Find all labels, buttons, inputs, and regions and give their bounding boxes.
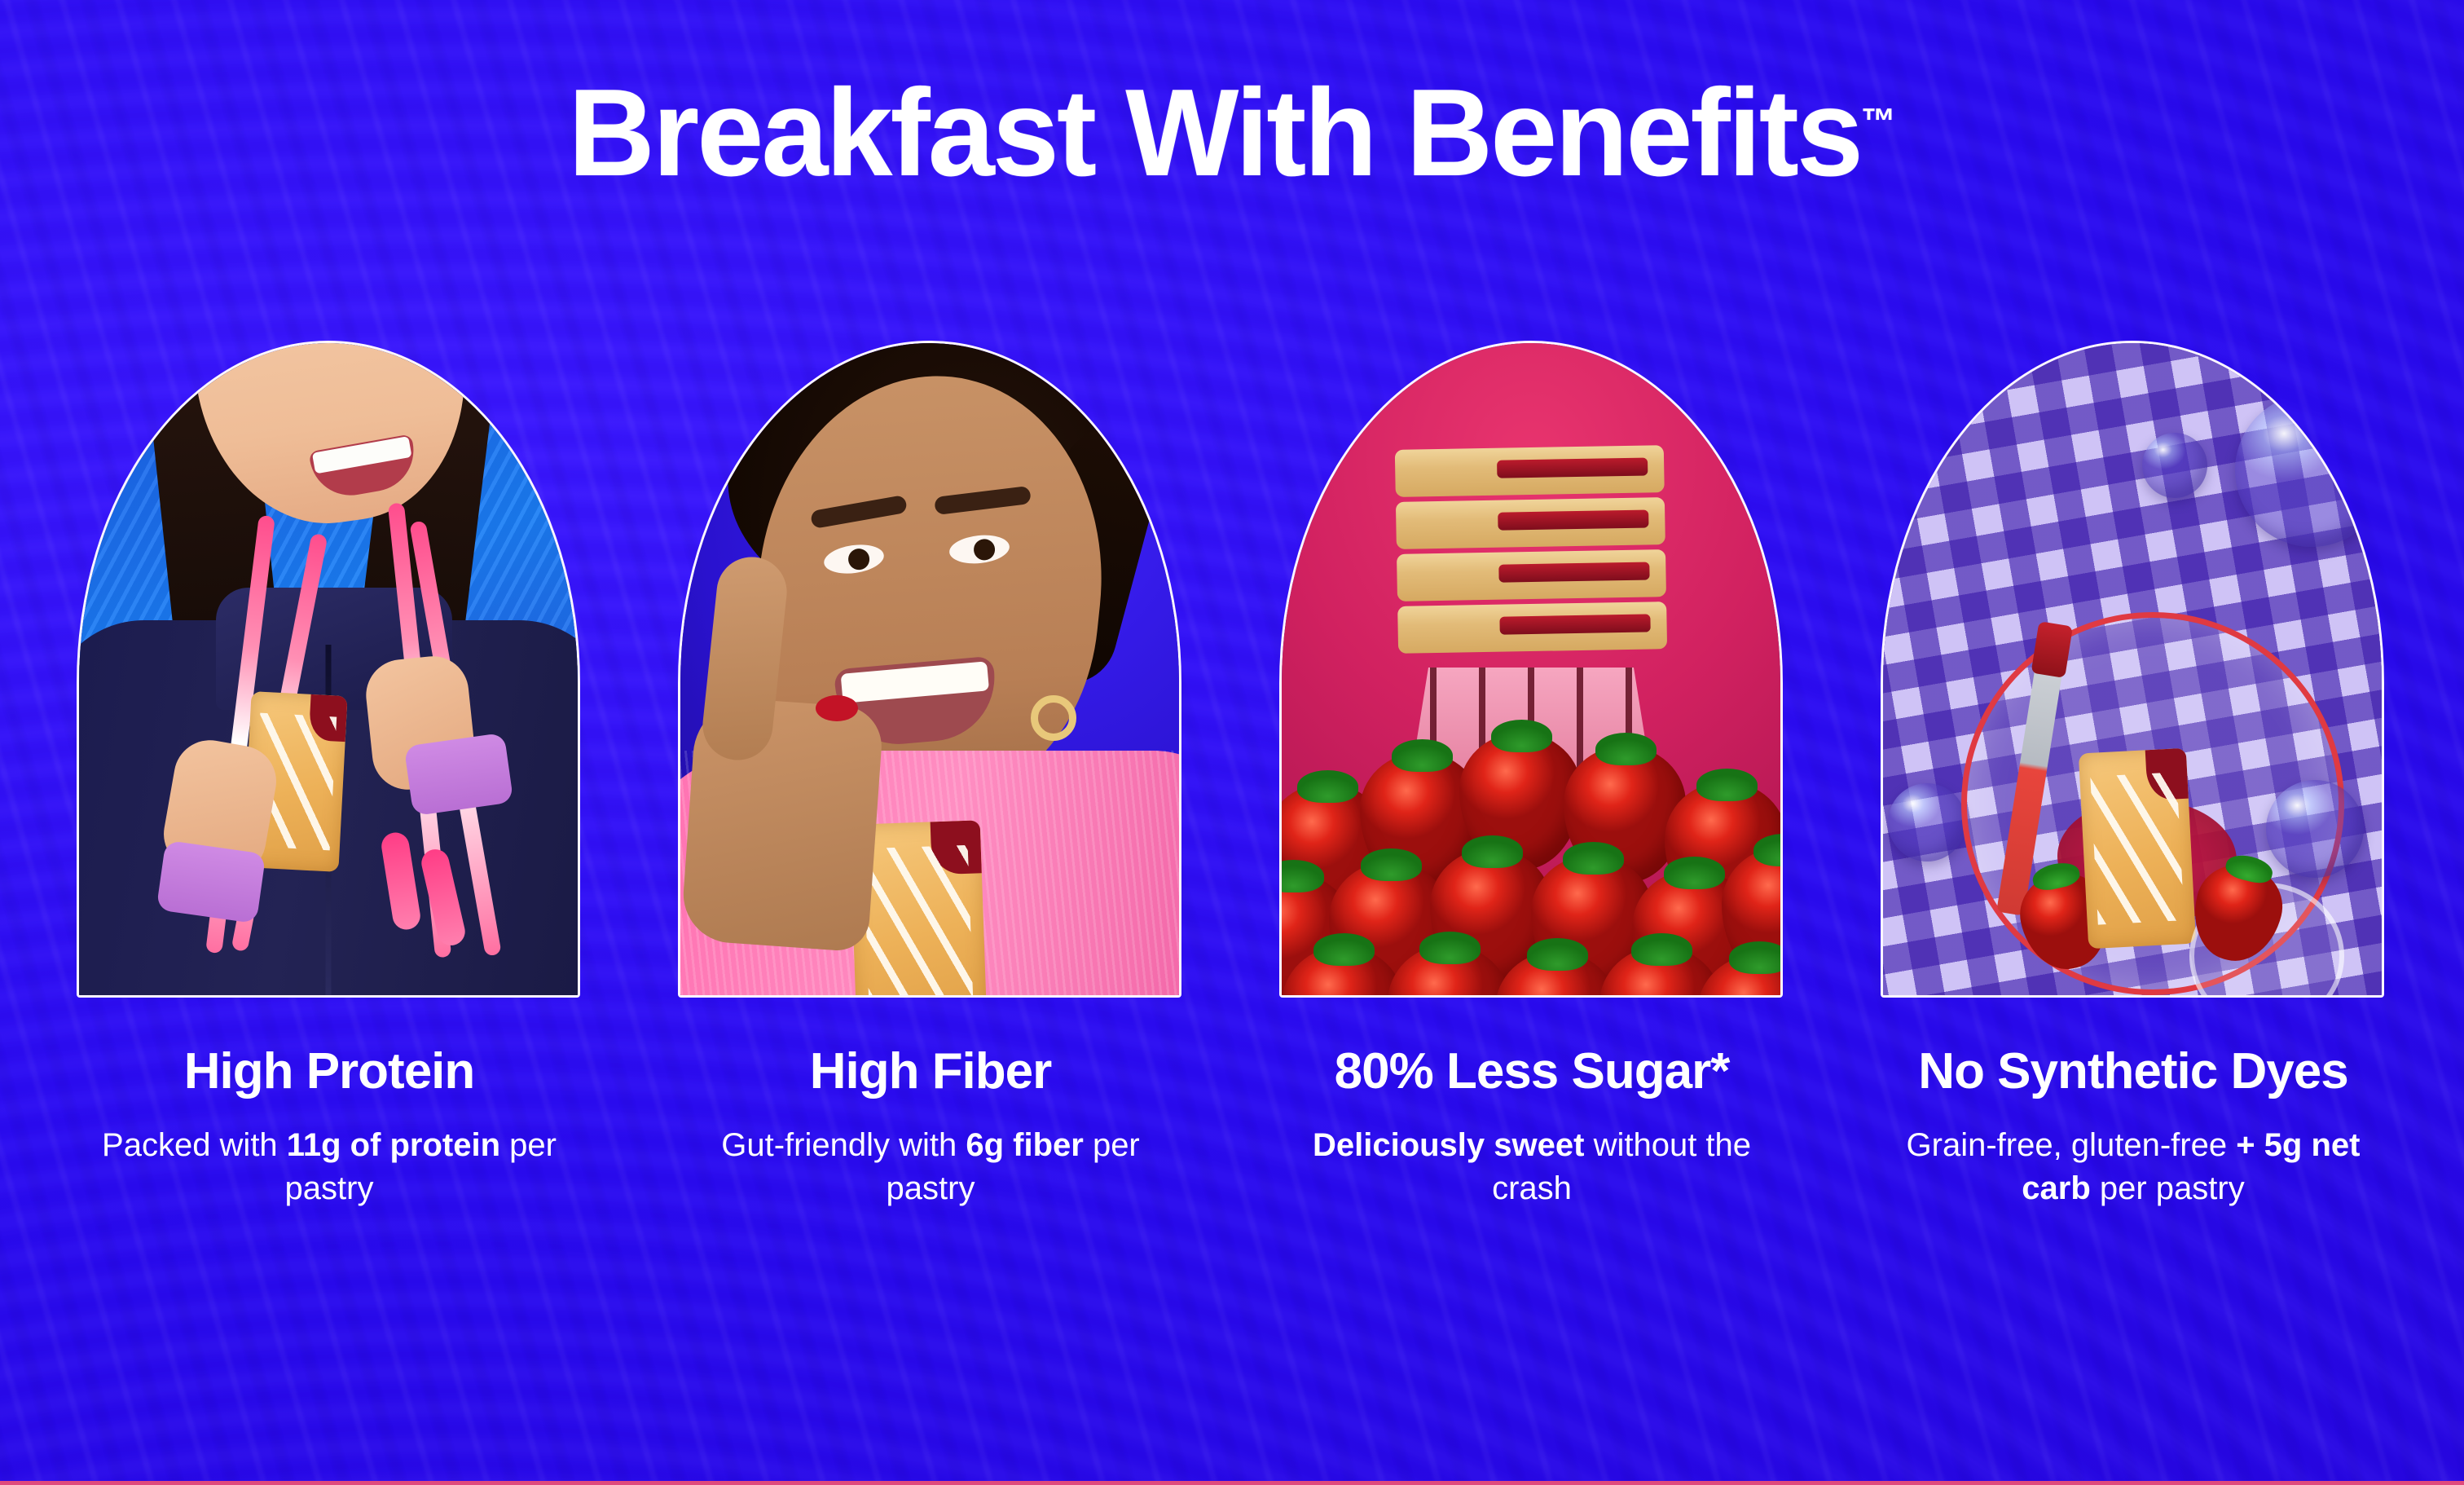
photo-gingham-flatlay	[1883, 343, 2382, 995]
jacket-cuff	[404, 733, 514, 816]
benefit-title: No Synthetic Dyes	[1881, 1045, 2386, 1099]
benefit-caption: High Protein Packed with 11g of protein …	[77, 1045, 582, 1210]
benefit-caption: 80% Less Sugar* Deliciously sweet withou…	[1279, 1045, 1784, 1210]
pastry-slice	[1397, 549, 1666, 601]
glass-marble	[2235, 394, 2382, 547]
benefit-caption: High Fiber Gut-friendly with 6g fiber pe…	[678, 1045, 1183, 1210]
pastry	[2079, 748, 2196, 950]
pastry-slice	[1396, 497, 1665, 549]
benefit-title: High Protein	[77, 1045, 582, 1099]
pastry-icing-drizzle	[2090, 772, 2184, 925]
glass-marble	[2142, 433, 2207, 498]
benefit-card-no-synthetic-dyes[interactable]: No Synthetic Dyes Grain-free, gluten-fre…	[1881, 341, 2386, 1210]
benefit-description: Grain-free, gluten-free + 5g net carb pe…	[1881, 1124, 2386, 1210]
desc-highlight: 11g of protein	[287, 1127, 500, 1163]
benefit-image-high-fiber	[678, 341, 1181, 998]
page-content: Breakfast With Benefits™	[0, 0, 2464, 1485]
glass-marble	[2266, 780, 2364, 878]
benefit-image-no-synthetic-dyes	[1881, 341, 2384, 998]
trademark-symbol: ™	[1861, 101, 1896, 141]
benefit-description: Deliciously sweet without the crash	[1279, 1124, 1784, 1210]
benefit-title: 80% Less Sugar*	[1279, 1045, 1784, 1099]
desc-prefix: Grain-free, gluten-free	[1907, 1127, 2237, 1163]
pastry-slice	[1397, 601, 1667, 654]
page-title-text: Breakfast With Benefits	[568, 64, 1861, 202]
photo-gym-woman	[79, 343, 578, 995]
photo-strawberry-tower	[1282, 343, 1780, 995]
desc-highlight: Deliciously sweet	[1313, 1127, 1584, 1163]
benefit-image-less-sugar	[1279, 341, 1783, 998]
glass-marble	[1888, 783, 1966, 861]
hoop-earring	[1031, 695, 1076, 741]
benefit-description: Gut-friendly with 6g fiber per pastry	[678, 1124, 1183, 1210]
pastry-icing-drizzle	[864, 845, 974, 995]
benefit-card-less-sugar[interactable]: 80% Less Sugar* Deliciously sweet withou…	[1279, 341, 1784, 1210]
benefits-row: High Protein Packed with 11g of protein …	[77, 341, 2387, 1210]
benefit-image-high-protein	[77, 341, 580, 998]
desc-suffix: per pastry	[2091, 1170, 2245, 1206]
benefit-title: High Fiber	[678, 1045, 1183, 1099]
pastry-stack	[1395, 445, 1667, 659]
page-title: Breakfast With Benefits™	[37, 70, 2427, 196]
photo-fiber-woman	[680, 343, 1179, 995]
jacket-cuff	[156, 840, 266, 923]
benefit-card-high-protein[interactable]: High Protein Packed with 11g of protein …	[77, 341, 582, 1210]
benefit-caption: No Synthetic Dyes Grain-free, gluten-fre…	[1881, 1045, 2386, 1210]
benefit-card-high-fiber[interactable]: High Fiber Gut-friendly with 6g fiber pe…	[678, 341, 1183, 1210]
desc-prefix: Packed with	[102, 1127, 287, 1163]
desc-prefix: Gut-friendly with	[721, 1127, 966, 1163]
strawberry-mound	[1282, 685, 1780, 995]
bottom-accent-strip	[0, 1481, 2464, 1485]
desc-highlight: 6g fiber	[966, 1127, 1083, 1163]
benefit-description: Packed with 11g of protein per pastry	[77, 1124, 582, 1210]
pastry-slice	[1395, 445, 1665, 497]
jam-dollop	[816, 695, 858, 721]
